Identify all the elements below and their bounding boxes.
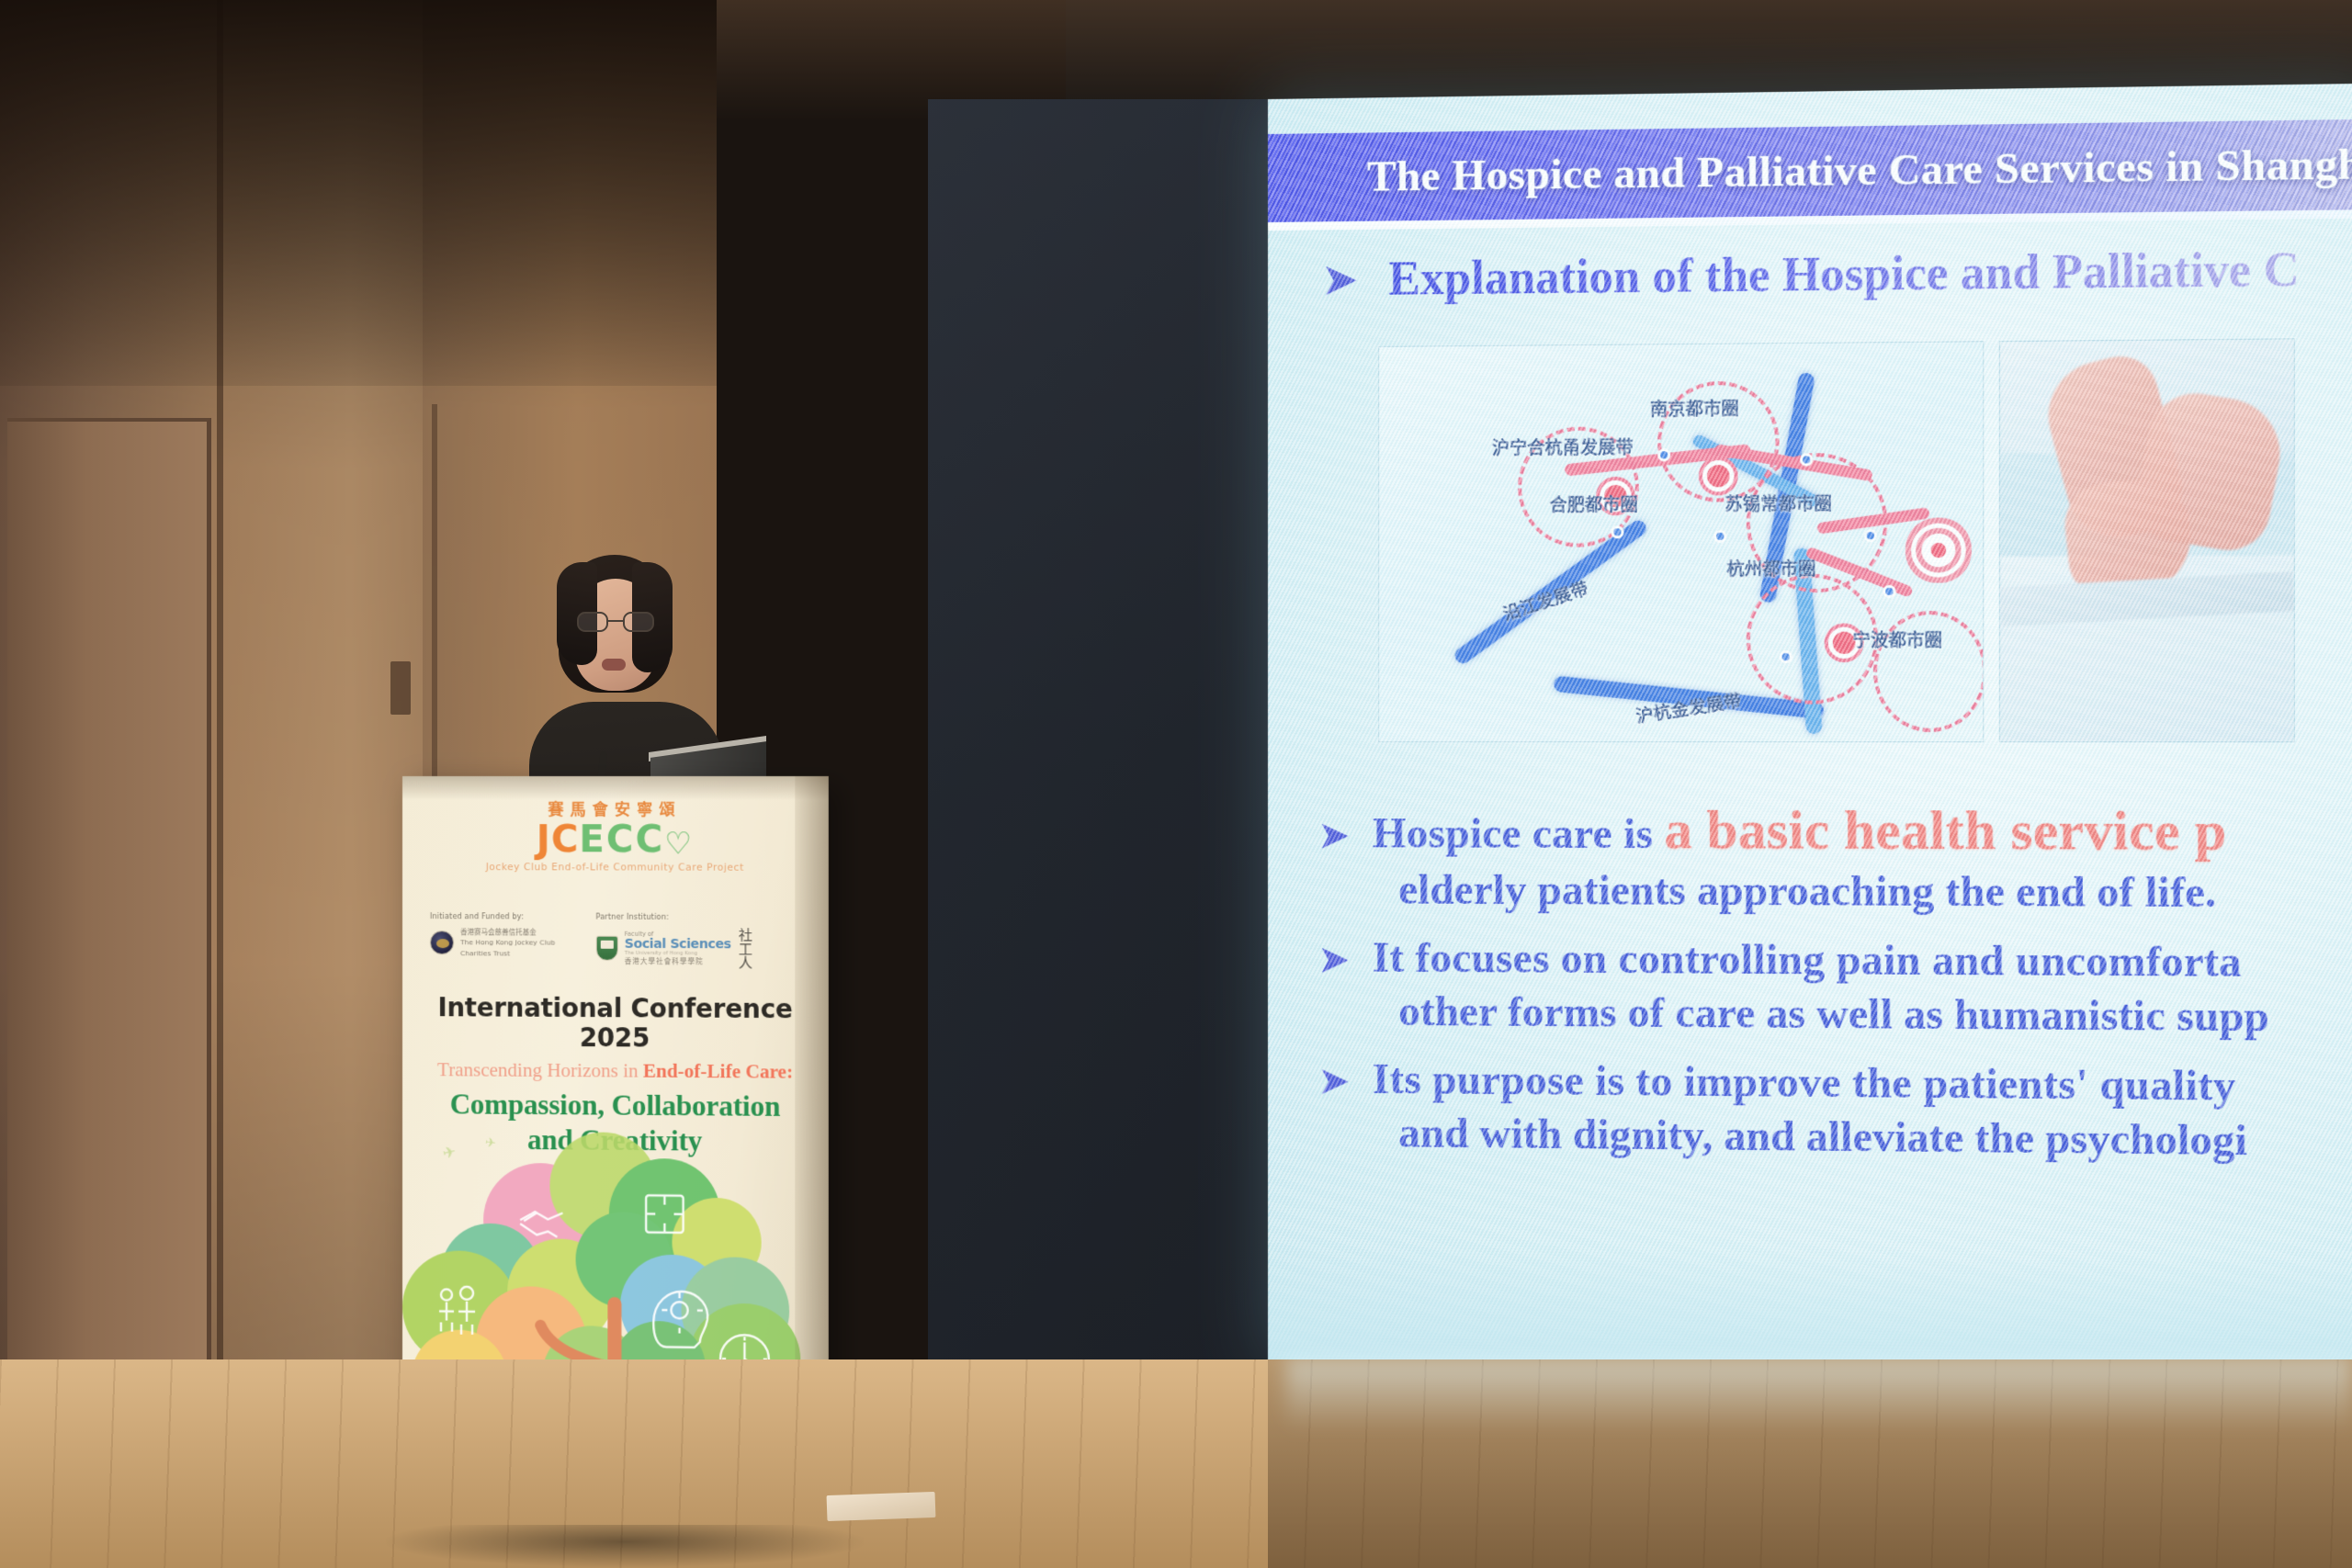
map-label: 杭州都市圈 (1726, 556, 1815, 581)
partner-univ-cn: 香港大學社會科學學院 (625, 956, 731, 967)
conference-main-line-1: Compassion, Collaboration (423, 1087, 808, 1124)
stage-wall-door-panel (7, 418, 211, 1359)
jcecc-logo-ecc: ECC (579, 818, 664, 861)
slide-bullet: ➤ Its purpose is to improve the patients… (1319, 1054, 2352, 1112)
conference-title: International Conference 2025 (423, 993, 808, 1054)
slide-title: The Hospice and Palliative Care Services… (1367, 139, 2352, 201)
conference-theme: Transcending Horizons in End-of-Life Car… (423, 1058, 808, 1084)
partner-label: Partner Institution: (595, 913, 752, 922)
map-label: 南京都市圈 (1650, 395, 1739, 421)
bullet-continuation: elderly patients approaching the end of … (1398, 864, 2352, 919)
funder-block: Initiated and Funded by: 香港赛马会慈善信托基金 The… (430, 912, 555, 969)
arrow-bullet-icon: ➤ (1319, 818, 1349, 853)
bullet-highlight-text: a basic health service p (1664, 799, 2226, 862)
conference-theme-emphasis: End-of-Life Care: (643, 1060, 793, 1083)
jcecc-logo-chinese: 賽馬會安寧頌 (402, 796, 829, 819)
funder-label: Initiated and Funded by: (430, 912, 555, 920)
funder-name-cn: 香港赛马会慈善信托基金 (460, 927, 555, 938)
jcecc-logo: 賽馬會安寧頌 JCECC♡ Jockey Club End-of-Life Co… (402, 796, 829, 874)
funder-name-en-1: The Hong Kong Jockey Club (460, 937, 555, 948)
slide-subtitle: Explanation of the Hospice and Palliativ… (1388, 243, 2300, 307)
speaker-glasses-icon (575, 612, 660, 633)
map-label: 合肥都市圈 (1549, 491, 1637, 517)
funder-name-en-2: Charities Trust (460, 948, 555, 959)
podium-floor-shadow (386, 1525, 864, 1567)
partner-block: Partner Institution: Faculty of Social S… (595, 913, 752, 970)
hku-crest-icon (595, 936, 617, 961)
paper-on-stage (827, 1492, 936, 1521)
partner-extra-cn-mark: 社工人 (738, 928, 752, 969)
slide-title-bar: The Hospice and Palliative Care Services… (1268, 119, 2352, 222)
slide-body: ➤ Hospice care is a basic health service… (1319, 797, 2352, 1186)
partner-faculty: Social Sciences (625, 938, 731, 951)
speaker-mouth (602, 659, 626, 671)
bullet-continuation: and with dignity, and alleviate the psyc… (1398, 1108, 2352, 1168)
slide-bullet: ➤ Hospice care is a basic health service… (1319, 797, 2352, 863)
map-label: 宁波都市圈 (1852, 626, 1942, 652)
slide-bullet: ➤ It focuses on controlling pain and unc… (1319, 932, 2352, 988)
screen-glow-on-floor (1286, 1358, 2352, 1431)
arrow-bullet-icon: ➤ (1319, 942, 1349, 977)
jcecc-logo-jc: JC (537, 818, 580, 861)
podium-partner-strip: Initiated and Funded by: 香港赛马会慈善信托基金 The… (430, 912, 808, 970)
partner-name: Faculty of Social Sciences The Universit… (625, 931, 731, 967)
arrow-bullet-icon: ➤ (1323, 259, 1357, 299)
bullet-lead-text: Hospice care is a basic health service p (1373, 797, 2227, 863)
jcecc-logo-wordmark: JCECC♡ (402, 820, 829, 860)
conference-photo-scene: The Hospice and Palliative Care Services… (0, 0, 2352, 1568)
bullet-continuation: other forms of care as well as humanisti… (1398, 987, 2352, 1043)
funder-name: 香港赛马会慈善信托基金 The Hong Kong Jockey Club Ch… (460, 927, 555, 958)
slide-image-row: 南京都市圈 沪宁合杭甬发展带 合肥都市圈 苏锡常都市圈 杭州都市圈 宁波都市圈 … (1378, 338, 2295, 742)
holding-hands-photo (1999, 338, 2295, 742)
bird-icon: ✈ (484, 1134, 496, 1151)
heart-icon: ♡ (664, 828, 693, 860)
bullet-lead-text: It focuses on controlling pain and uncom… (1373, 933, 2242, 988)
map-label: 苏锡常都市圈 (1724, 491, 1831, 516)
arrow-bullet-icon: ➤ (1319, 1064, 1349, 1099)
map-label: 沪宁合杭甬发展带 (1492, 434, 1634, 459)
projected-slide: The Hospice and Palliative Care Services… (1268, 84, 2352, 1379)
wall-vent (390, 661, 411, 715)
map-label: 沿江发展带 (1499, 575, 1591, 626)
yangtze-delta-map-image: 南京都市圈 沪宁合杭甬发展带 合肥都市圈 苏锡常都市圈 杭州都市圈 宁波都市圈 … (1378, 341, 1984, 742)
jcecc-logo-tagline: Jockey Club End-of-Life Community Care P… (402, 862, 829, 874)
hkjc-logo-icon (430, 931, 454, 954)
bullet-lead-text: Its purpose is to improve the patients' … (1373, 1055, 2236, 1111)
slide-subtitle-row: ➤ Explanation of the Hospice and Palliat… (1323, 243, 2300, 308)
